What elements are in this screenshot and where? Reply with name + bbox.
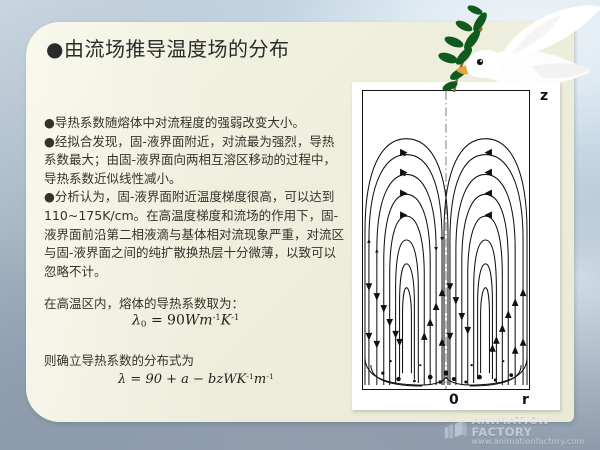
streamlines-left [365,139,448,385]
animation-factory-logo-icon [444,419,467,441]
formula1-unit-1: Wm [185,312,213,328]
formula2-exp-1: -1 [246,372,254,381]
lead-in-text-2: 则确立导热系数的分布式为 [44,350,194,369]
bullet-item-1: ●导热系数随熔体中对流程度的强弱改变大小。 [44,114,344,133]
axis-label-origin: 0 [449,392,459,408]
formula1-equals: = [151,312,163,328]
dove-body [456,5,600,86]
formula1-subscript: 0 [141,319,147,329]
watermark-text: ANIMATION FACTORY www.animationfactory.c… [471,414,600,447]
formula2-equals: = [130,372,141,387]
bullet-item-3: ●分析认为，固-液界面附近温度梯度很高，可以达到110~175K/cm。在高温度… [44,188,344,281]
flow-field-diagram-panel: z 0 r [352,82,560,410]
formula-lambda-distribution: λ = 90 + a − bzWK-1m-1 [118,372,274,387]
formula2-expression: 90 + a − bz [145,372,223,387]
watermark-url: www.animationfactory.com [471,438,600,446]
page-title: ●由流场推导温度场的分布 [46,36,289,62]
dove-with-olive-branch-image [404,0,600,102]
streamline-plot [363,91,529,389]
diagram-plot-frame [362,90,530,390]
formula2-lambda: λ [118,372,126,387]
bullet-item-2: ●经拟合发现，固-液界面附近，对流最为强烈，导热系数最大；由固-液界面向两相互溶… [44,133,344,189]
body-text-block: ●导热系数随熔体中对流程度的强弱改变大小。 ●经拟合发现，固-液界面附近，对流最… [44,114,344,314]
formula1-exp-2: -1 [231,312,239,322]
formula2-unit-2: m [254,372,266,387]
formula1-value: 90 [167,312,185,328]
watermark-title: ANIMATION FACTORY [471,414,600,438]
olive-branch-icon [437,3,489,92]
axis-label-r: r [522,392,529,408]
formula1-unit-2: K [221,312,231,328]
formula2-unit-1: WK [223,372,246,387]
formula-lambda-zero: λ0 = 90Wm-1K-1 [132,312,239,329]
formula2-exp-2: -1 [266,372,274,381]
formula1-lambda: λ [132,312,141,328]
formula1-exp-1: -1 [213,312,221,322]
watermark: ANIMATION FACTORY www.animationfactory.c… [444,414,600,447]
stipple-dots [381,360,513,384]
